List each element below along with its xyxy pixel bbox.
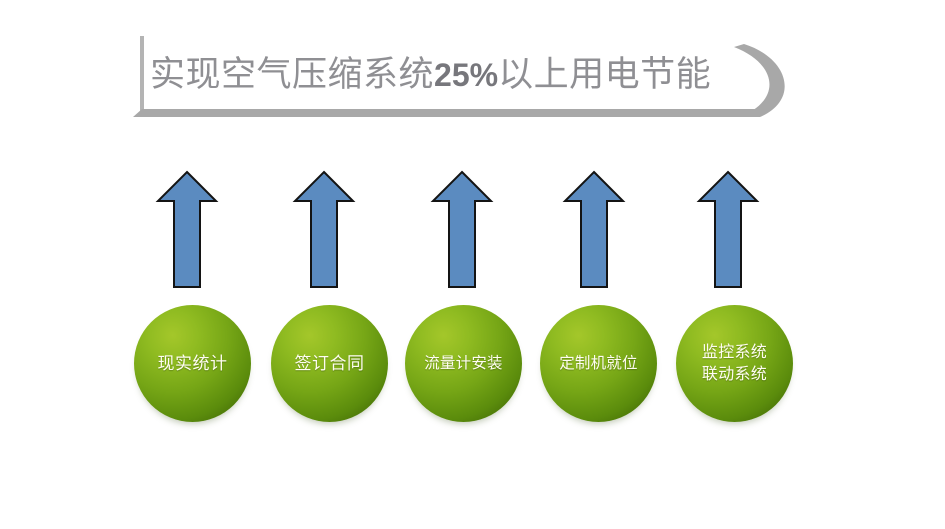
- step-circle-1[interactable]: 现实统计: [134, 305, 251, 422]
- up-arrow-icon-1: [155, 170, 219, 290]
- slide-canvas: 实现空气压缩系统25%以上用电节能 现实统计 签订合同 流量计安装: [0, 0, 945, 529]
- title-suffix: 以上用电节能: [498, 55, 711, 94]
- title-banner: 实现空气压缩系统25%以上用电节能: [0, 0, 945, 150]
- up-arrow-icon-4: [562, 170, 626, 290]
- step-label-2: 签订合同: [295, 352, 365, 375]
- step-label-4: 定制机就位: [559, 352, 638, 375]
- step-circle-2[interactable]: 签订合同: [271, 305, 388, 422]
- step-circle-4[interactable]: 定制机就位: [540, 305, 657, 422]
- title-prefix: 实现空气压缩系统: [150, 55, 434, 94]
- title-highlight: 25%: [434, 57, 498, 93]
- step-label-1: 现实统计: [158, 352, 228, 375]
- step-label-3: 流量计安装: [424, 352, 503, 375]
- step-circle-3[interactable]: 流量计安装: [405, 305, 522, 422]
- step-label-5: 监控系统 联动系统: [702, 342, 767, 386]
- up-arrow-icon-3: [430, 170, 494, 290]
- step-circle-5[interactable]: 监控系统 联动系统: [676, 305, 793, 422]
- up-arrow-icon-2: [292, 170, 356, 290]
- page-title: 实现空气压缩系统25%以上用电节能: [150, 49, 730, 101]
- up-arrow-icon-5: [696, 170, 760, 290]
